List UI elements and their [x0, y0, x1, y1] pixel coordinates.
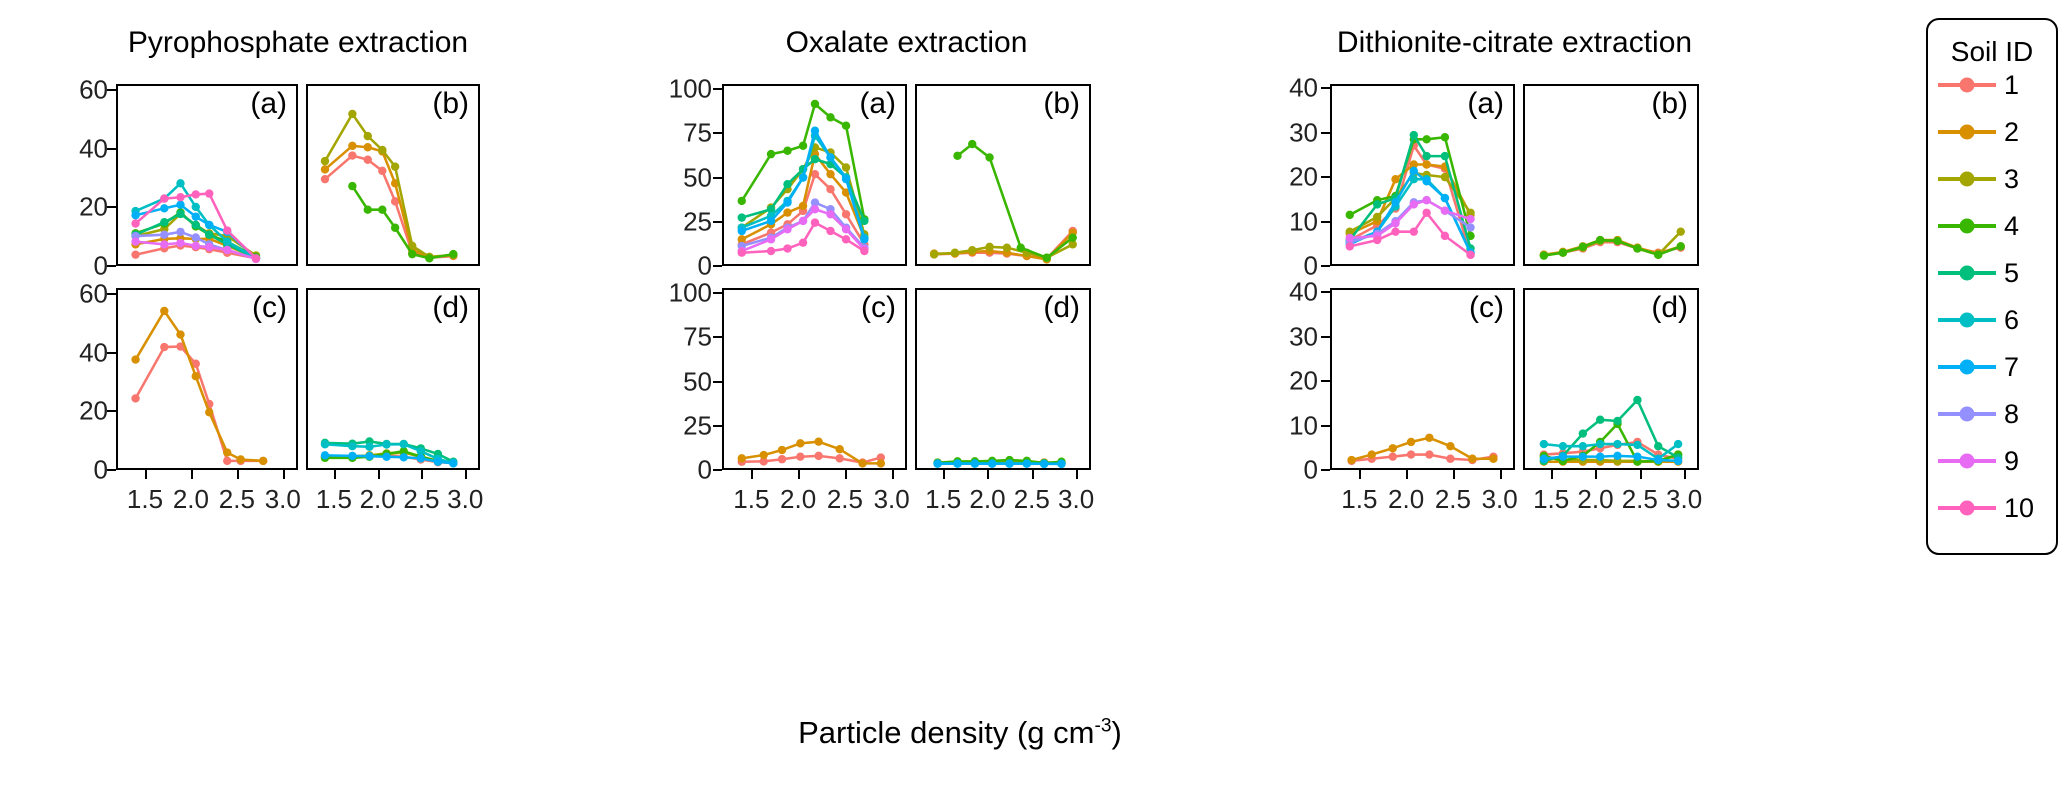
x-tick-label: 1.5 [1533, 484, 1569, 515]
legend-item-label: 2 [2004, 117, 2019, 148]
x-tick-label: 2.5 [1014, 484, 1050, 515]
legend-key-icon [1936, 497, 1998, 519]
x-tick-mark [1359, 470, 1361, 479]
x-tick-label: 3.0 [1058, 484, 1094, 515]
panel-2-a: (a) [722, 84, 907, 266]
x-tick-label: 3.0 [265, 484, 301, 515]
x-tick-label: 1.5 [925, 484, 961, 515]
y-tick-label: 40 [79, 133, 108, 164]
y-tick-mark [107, 293, 116, 295]
legend-key-icon [1936, 262, 1998, 284]
legend-item-9[interactable]: 9 [1936, 448, 2052, 474]
y-axis-title: Al + 0.5Fe (mg g-1 fraction) [0, 0, 54, 60]
x-tick-label: 3.0 [447, 484, 483, 515]
panel-1-c: (c) [116, 288, 298, 470]
legend-key-icon [1936, 403, 1998, 425]
panel-2-c: (c) [722, 288, 907, 470]
y-tick-mark [107, 352, 116, 354]
legend-key-icon [1936, 215, 1998, 237]
x-tick-label: 2.0 [1577, 484, 1613, 515]
x-tick-label: 2.5 [219, 484, 255, 515]
y-tick-label: 60 [79, 278, 108, 309]
y-tick-label: 0 [698, 455, 712, 486]
x-tick-label: 2.0 [360, 484, 396, 515]
y-tick-mark [1321, 265, 1330, 267]
legend-item-2[interactable]: 2 [1936, 119, 2052, 145]
x-tick-mark [237, 470, 239, 479]
y-tick-mark [1321, 176, 1330, 178]
y-tick-label: 50 [683, 366, 712, 397]
x-tick-label: 2.5 [827, 484, 863, 515]
series-soil-1 [1346, 141, 1475, 259]
x-tick-mark [943, 470, 945, 479]
x-tick-label: 1.5 [733, 484, 769, 515]
figure-root: Al + 0.5Fe (mg g-1 fraction) Particle de… [0, 0, 2067, 787]
y-tick-label: 40 [1289, 73, 1318, 104]
y-tick-mark [1321, 425, 1330, 427]
group-title-2: Oxalate extraction [682, 26, 1131, 60]
x-tick-label: 1.5 [316, 484, 352, 515]
series-soil-1 [131, 342, 267, 465]
y-tick-label: 100 [669, 74, 712, 105]
y-tick-label: 30 [1289, 321, 1318, 352]
y-tick-label: 40 [1289, 277, 1318, 308]
legend-panel: Soil ID 12345678910 [1926, 18, 2058, 555]
y-tick-label: 75 [683, 322, 712, 353]
legend-key-icon [1936, 450, 1998, 472]
x-tick-mark [892, 470, 894, 479]
legend-item-5[interactable]: 5 [1936, 260, 2052, 286]
x-tick-label: 3.0 [1666, 484, 1702, 515]
x-tick-mark [421, 470, 423, 479]
y-tick-label: 25 [683, 206, 712, 237]
y-tick-mark [1321, 132, 1330, 134]
series-soil-1 [930, 227, 1077, 263]
series-soil-5 [1346, 131, 1475, 253]
x-tick-label: 2.0 [969, 484, 1005, 515]
x-tick-mark [283, 470, 285, 479]
legend-key-icon [1936, 168, 1998, 190]
x-tick-label: 2.5 [1622, 484, 1658, 515]
y-tick-label: 60 [79, 74, 108, 105]
y-tick-label: 100 [669, 278, 712, 309]
legend-item-10[interactable]: 10 [1936, 495, 2052, 521]
series-soil-4 [953, 140, 1077, 262]
x-tick-mark [145, 470, 147, 479]
panel-1-d: (d) [306, 288, 480, 470]
x-tick-mark [1595, 470, 1597, 479]
legend-item-label: 1 [2004, 70, 2019, 101]
legend-key-icon [1936, 309, 1998, 331]
legend-item-label: 6 [2004, 305, 2019, 336]
y-tick-mark [107, 410, 116, 412]
legend-title: Soil ID [1928, 36, 2056, 68]
y-tick-label: 0 [94, 251, 108, 282]
x-tick-label: 1.5 [127, 484, 163, 515]
x-tick-mark [1076, 470, 1078, 479]
y-tick-label: 30 [1289, 117, 1318, 148]
legend-item-label: 8 [2004, 399, 2019, 430]
x-tick-mark [1453, 470, 1455, 479]
y-tick-label: 20 [79, 192, 108, 223]
x-tick-mark [751, 470, 753, 479]
y-tick-label: 0 [1304, 455, 1318, 486]
x-tick-mark [845, 470, 847, 479]
y-tick-mark [1321, 469, 1330, 471]
legend-item-label: 5 [2004, 258, 2019, 289]
series-soil-4 [1540, 236, 1685, 260]
y-tick-mark [1321, 87, 1330, 89]
legend-item-label: 4 [2004, 211, 2019, 242]
y-tick-mark [713, 88, 722, 90]
x-tick-label: 2.0 [1388, 484, 1424, 515]
x-axis-title: Particle density (g cm-3) [660, 715, 1260, 751]
y-tick-mark [1321, 336, 1330, 338]
y-tick-mark [713, 381, 722, 383]
y-tick-mark [713, 425, 722, 427]
x-tick-label: 3.0 [1482, 484, 1518, 515]
y-tick-mark [713, 292, 722, 294]
legend-key-icon [1936, 121, 1998, 143]
y-tick-mark [1321, 380, 1330, 382]
legend-item-label: 9 [2004, 446, 2019, 477]
x-tick-label: 2.0 [780, 484, 816, 515]
panel-3-a: (a) [1330, 84, 1515, 266]
x-tick-label: 3.0 [874, 484, 910, 515]
y-tick-label: 20 [1289, 162, 1318, 193]
x-tick-mark [1032, 470, 1034, 479]
group-title-1: Pyrophosphate extraction [76, 26, 520, 60]
x-tick-mark [334, 470, 336, 479]
panel-2-b: (b) [915, 84, 1091, 266]
legend-item-7[interactable]: 7 [1936, 354, 2052, 380]
legend-key-icon [1936, 74, 1998, 96]
x-tick-mark [987, 470, 989, 479]
y-tick-mark [107, 469, 116, 471]
legend-item-8[interactable]: 8 [1936, 401, 2052, 427]
series-soil-2 [131, 307, 267, 465]
x-tick-label: 2.0 [173, 484, 209, 515]
legend-item-4[interactable]: 4 [1936, 213, 2052, 239]
y-tick-mark [107, 148, 116, 150]
y-tick-mark [713, 132, 722, 134]
x-tick-label: 2.5 [403, 484, 439, 515]
x-tick-mark [1551, 470, 1553, 479]
panel-3-c: (c) [1330, 288, 1515, 470]
panel-1-a: (a) [116, 84, 298, 266]
x-tick-mark [191, 470, 193, 479]
legend-item-label: 7 [2004, 352, 2019, 383]
y-tick-mark [713, 177, 722, 179]
y-tick-label: 0 [94, 455, 108, 486]
y-tick-label: 75 [683, 118, 712, 149]
y-tick-mark [107, 89, 116, 91]
panel-3-d: (d) [1523, 288, 1699, 470]
y-tick-label: 25 [683, 410, 712, 441]
x-tick-label: 2.5 [1435, 484, 1471, 515]
panel-1-b: (b) [306, 84, 480, 266]
y-tick-label: 50 [683, 162, 712, 193]
y-tick-mark [713, 469, 722, 471]
y-tick-label: 20 [79, 396, 108, 427]
x-tick-mark [1684, 470, 1686, 479]
legend-item-6[interactable]: 6 [1936, 307, 2052, 333]
legend-item-3[interactable]: 3 [1936, 166, 2052, 192]
y-tick-label: 10 [1289, 410, 1318, 441]
y-tick-mark [1321, 291, 1330, 293]
legend-key-icon [1936, 356, 1998, 378]
x-tick-label: 1.5 [1341, 484, 1377, 515]
x-tick-mark [1500, 470, 1502, 479]
legend-item-1[interactable]: 1 [1936, 72, 2052, 98]
series-soil-2 [738, 437, 885, 467]
x-tick-mark [798, 470, 800, 479]
y-tick-label: 40 [79, 337, 108, 368]
x-tick-mark [378, 470, 380, 479]
panel-3-b: (b) [1523, 84, 1699, 266]
legend-item-label: 3 [2004, 164, 2019, 195]
y-tick-label: 20 [1289, 366, 1318, 397]
y-tick-mark [107, 265, 116, 267]
y-tick-label: 10 [1289, 206, 1318, 237]
y-tick-mark [713, 336, 722, 338]
x-tick-mark [465, 470, 467, 479]
y-tick-mark [713, 221, 722, 223]
x-tick-mark [1406, 470, 1408, 479]
y-tick-mark [713, 265, 722, 267]
y-tick-mark [1321, 221, 1330, 223]
group-title-3: Dithionite-citrate extraction [1290, 26, 1739, 60]
x-tick-mark [1640, 470, 1642, 479]
y-tick-mark [107, 206, 116, 208]
legend-item-label: 10 [2004, 493, 2034, 524]
panel-2-d: (d) [915, 288, 1091, 470]
